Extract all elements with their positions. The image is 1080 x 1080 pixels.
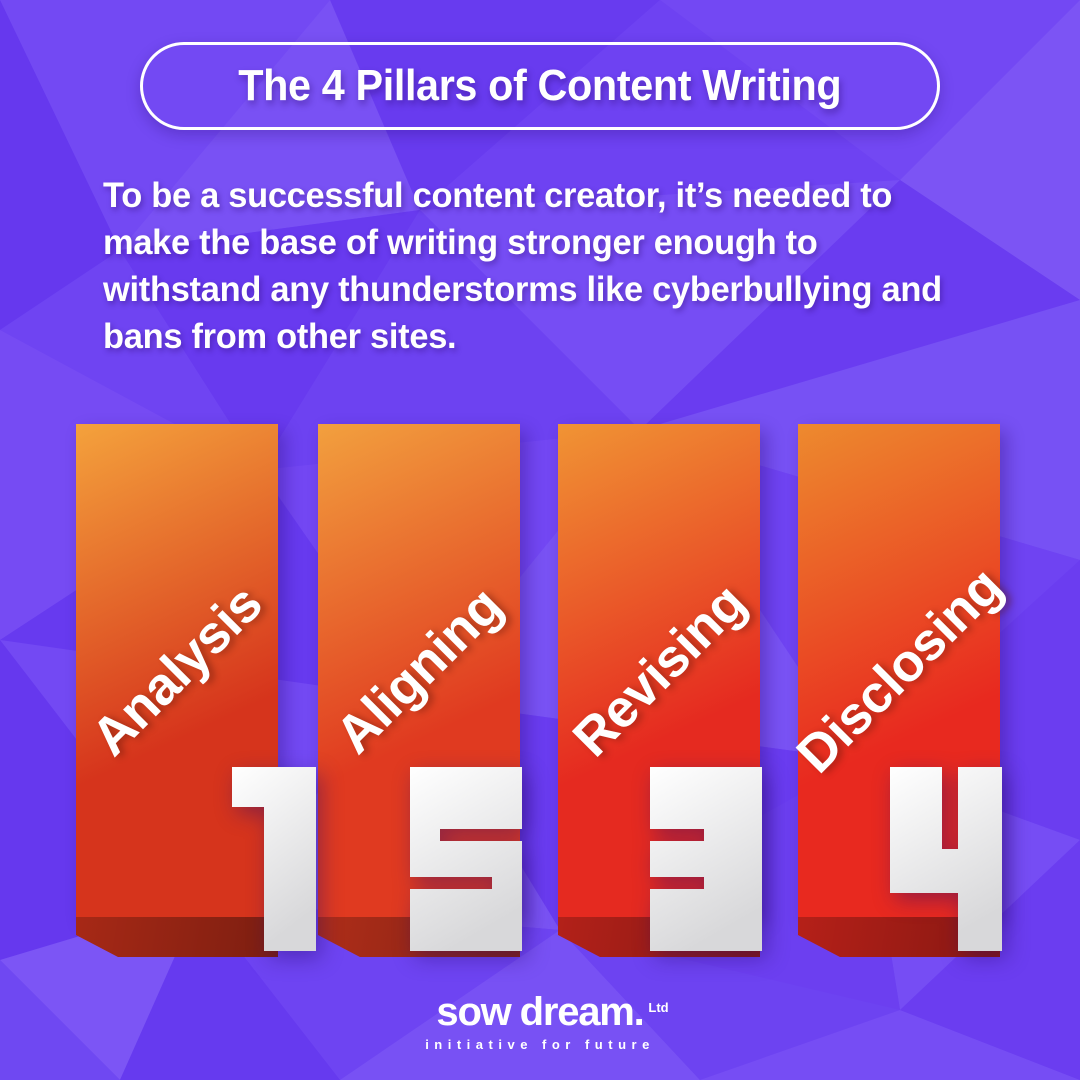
brand-secondary: dream. xyxy=(520,990,644,1034)
footer-logo: sowdream. Ltd initiative for future xyxy=(0,990,1080,1052)
page-title: The 4 Pillars of Content Writing xyxy=(238,61,841,111)
page-title-pill: The 4 Pillars of Content Writing xyxy=(140,42,940,130)
brand-tagline: initiative for future xyxy=(0,1037,1080,1052)
brand-primary: sow xyxy=(436,990,510,1034)
intro-paragraph: To be a successful content creator, it’s… xyxy=(103,172,976,360)
brand-suffix: Ltd xyxy=(648,986,668,1030)
background-polygon-pattern xyxy=(0,0,1080,1080)
brand-wordmark: sowdream. Ltd xyxy=(436,990,643,1034)
